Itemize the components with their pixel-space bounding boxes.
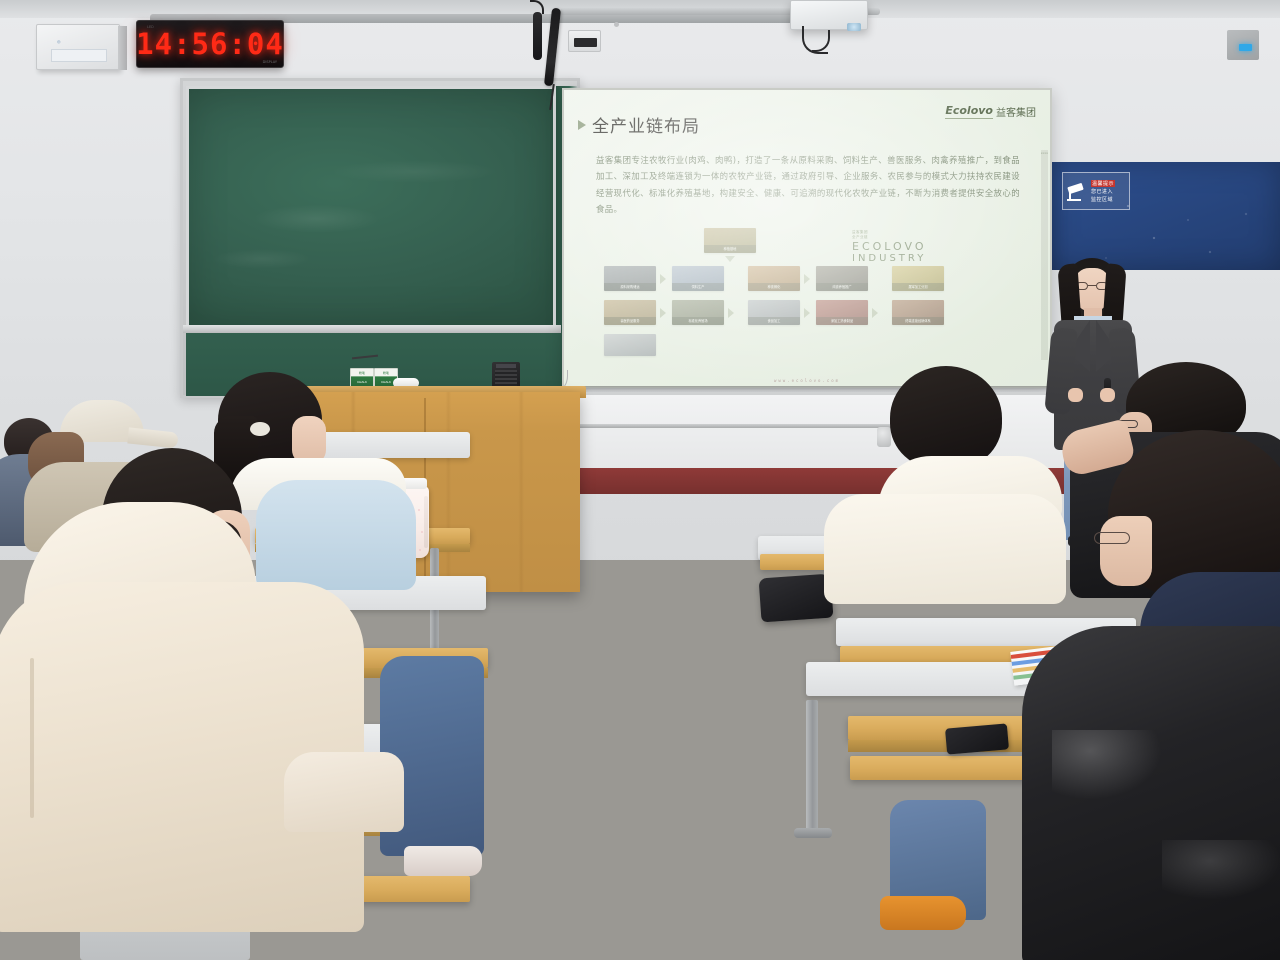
clock-brand-label: DISPLAY [263,60,277,64]
wall-unit-panel [51,49,107,62]
leather-highlight-2 [1162,840,1280,900]
chalk-smear [189,89,553,325]
clock-top-label: LED [147,25,154,29]
flow-node: 原料采购储运 [604,266,656,291]
flow-node: 食品加工 [748,300,800,325]
presenter-glasses-icon [1076,282,1108,290]
student-sneaker-right [880,896,966,930]
flow-node-extra [604,334,656,356]
classroom-scene: ◎ LED 14:56:04 DISPLAY 温馨提示 您已进入 监控区域 [0,0,1280,960]
flow-arrow-icon [660,274,666,284]
led-indicator [1239,44,1252,51]
digital-wall-clock: LED 14:56:04 DISPLAY [136,20,284,68]
wall-unit-logo: ◎ [57,39,61,44]
flow-arrow-icon [872,308,878,318]
flow-node-label: 兽医药品服务 [604,317,656,325]
student-glasses-icon [1094,532,1130,544]
blue-notice-board: 温馨提示 您已进入 监控区域 [1050,162,1280,270]
chalkboard-sliding-panel[interactable] [186,86,556,331]
watermark-ecolovo: ECOLOVO [852,240,926,253]
flow-node-label: 肉禽养殖推广 [816,283,868,291]
leather-highlight [1052,730,1162,800]
cctv-camera-icon [1066,180,1088,202]
slide-title: 全产业链布局 [592,112,700,137]
logo-english-text: Ecolovo [945,104,993,119]
wall-power-socket[interactable] [568,30,601,52]
flow-arrow-icon [804,274,810,284]
presenter-hand-left [1068,388,1083,402]
wall-led-device [1227,30,1259,60]
flow-node: 种植基地 [704,228,756,253]
watermark-industry: INDUSTRY [852,253,926,264]
student-head [890,366,1002,470]
flow-arrow-icon [804,308,810,318]
clock-time-display: 14:56:04 [136,27,284,61]
flow-node-label: 屠宰加工分割 [892,283,944,291]
student-arm [284,752,404,832]
notice-line-1: 温馨提示 [1091,180,1115,187]
flow-node-label: 原料采购储运 [604,283,656,291]
flow-node: 屠宰加工分割 [892,266,944,291]
flow-node: 种禽孵化 [748,266,800,291]
desk-foot [794,828,832,838]
diagram-watermark: 益客集团 全产业链 ECOLOVO INDUSTRY [852,230,926,264]
hanging-umbrella[interactable] [530,0,540,60]
flow-node: 深加工熟食制品 [816,300,868,325]
flow-node: 肉禽养殖推广 [816,266,868,291]
student-sneaker [404,846,482,876]
notice-line-3: 监控区域 [1091,196,1115,203]
flow-node: 饲料生产 [672,266,724,291]
flow-node-label: 种禽孵化 [748,283,800,291]
bottle-strap [424,496,428,548]
flow-node-label: 终端连锁经销体系 [892,317,944,325]
ecolovo-logo: Ecolovo 益客集团 [945,104,1036,119]
logo-chinese-text: 益客集团 [996,104,1036,119]
slide-body-text: 益客集团专注农牧行业(肉鸡、肉鸭)，打造了一条从原料采购、饲料生产、兽医服务、肉… [596,152,1020,218]
flow-node-label: 标准化养殖场 [672,317,724,325]
cap-brim [127,427,178,448]
flow-node: 标准化养殖场 [672,300,724,325]
flow-node-label: 深加工熟食制品 [816,317,868,325]
chalkboard-rail [183,325,561,333]
title-bullet-icon [578,120,586,130]
umbrella-body [533,12,542,60]
wall-mounted-unit: ◎ [36,24,120,70]
student-face-profile [1100,516,1152,586]
desk-leg [806,700,818,832]
wall-screw [614,22,619,27]
flow-node-label: 饲料生产 [672,283,724,291]
flow-node: 终端连锁经销体系 [892,300,944,325]
wall-unit-side [118,26,127,70]
industry-chain-flow: 益客集团 全产业链 ECOLOVO INDUSTRY 种植基地 原料采购储运 饲… [600,228,1020,356]
smartphone[interactable] [945,723,1009,754]
student-front-right-leather [1012,430,1280,960]
hair-clip [250,422,270,436]
hoodie-seam [30,658,34,818]
flow-arrow-down-icon [725,256,735,262]
flow-arrow-icon [728,308,734,318]
projection-screen: 全产业链布局 Ecolovo 益客集团 益客集团专注农牧行业(肉鸡、肉鸭)，打造… [562,88,1052,388]
student-front-left-cream-hoodie [8,448,368,928]
backpack[interactable] [759,574,834,623]
flow-node-label: 食品加工 [748,317,800,325]
surveillance-notice: 温馨提示 您已进入 监控区域 [1062,172,1130,210]
projector-lens [847,23,861,31]
flow-arrow-icon [660,308,666,318]
flow-node-label: 种植基地 [704,245,756,253]
notice-line-2: 您已进入 [1091,188,1115,195]
flow-node: 兽医药品服务 [604,300,656,325]
presentation-slide: 全产业链布局 Ecolovo 益客集团 益客集团专注农牧行业(肉鸡、肉鸭)，打造… [564,90,1050,386]
